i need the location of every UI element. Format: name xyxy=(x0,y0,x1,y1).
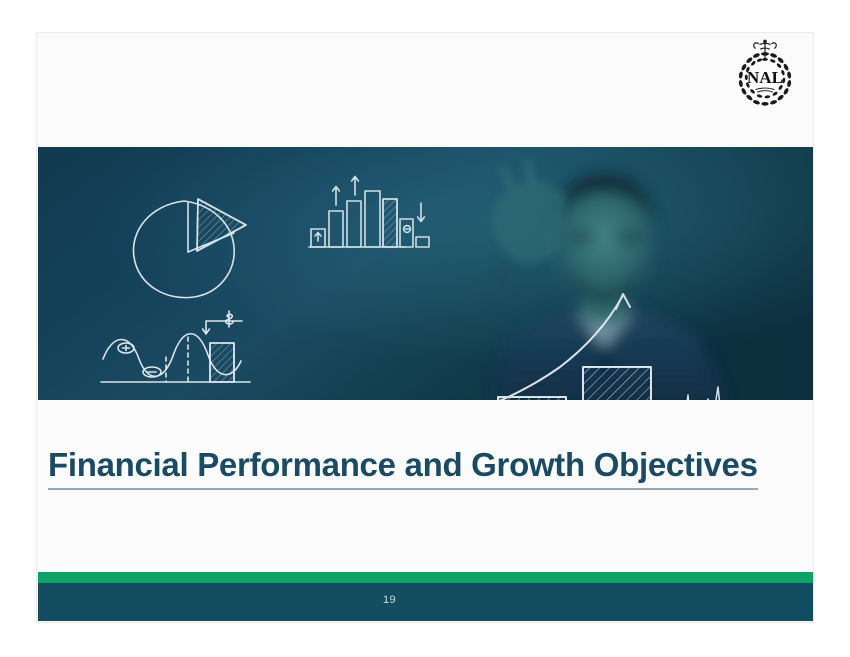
nal-logo-text: NAL xyxy=(747,68,783,87)
title-block: Financial Performance and Growth Objecti… xyxy=(48,445,798,490)
slide-canvas: NAL xyxy=(37,33,813,622)
page-number: 19 xyxy=(38,594,813,606)
footer-bar: 19 xyxy=(38,583,813,621)
hero-image xyxy=(38,147,813,400)
page-title: Financial Performance and Growth Objecti… xyxy=(48,445,758,490)
slide-header: NAL xyxy=(37,33,813,147)
nal-logo: NAL xyxy=(726,36,804,114)
footer-accent-stripe xyxy=(38,572,813,583)
